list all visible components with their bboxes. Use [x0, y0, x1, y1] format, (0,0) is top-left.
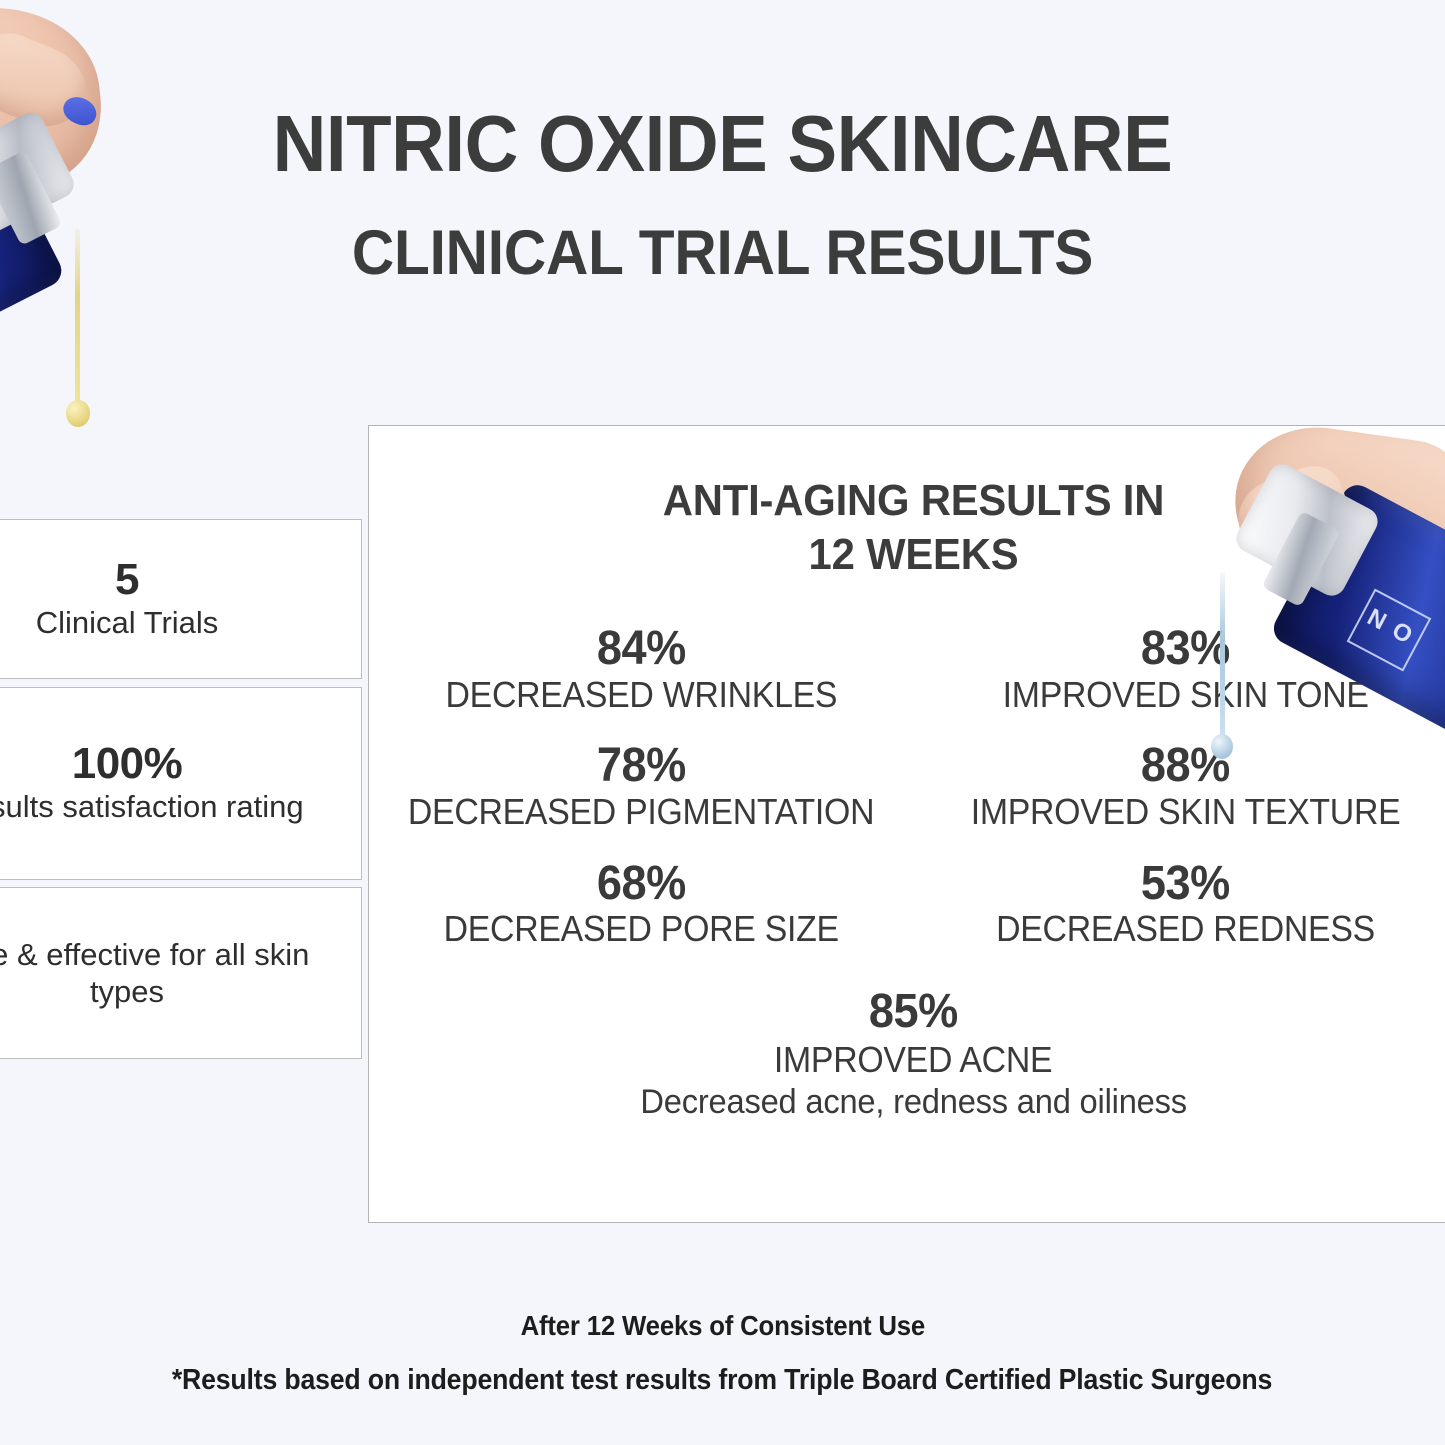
page-title: NITRIC OXIDE SKINCARE	[51, 104, 1395, 184]
stat-improved-skin-texture: 88% IMPROVED SKIN TEXTURE	[914, 740, 1445, 832]
side-card-satisfaction: 100% Results satisfaction rating	[0, 687, 362, 880]
stat-label: DECREASED REDNESS	[996, 909, 1375, 949]
results-panel: ANTI-AGING RESULTS IN 12 WEEKS 84% DECRE…	[368, 425, 1445, 1223]
stat-value: 53%	[1141, 858, 1230, 910]
stat-decreased-pore-size: 68% DECREASED PORE SIZE	[369, 858, 914, 950]
stat-improved-acne: 85% IMPROVED ACNE Decreased acne, rednes…	[369, 986, 1445, 1122]
stat-label: DECREASED PORE SIZE	[444, 909, 839, 949]
stat-improved-skin-tone: 83% IMPROVED SKIN TONE	[914, 623, 1445, 715]
panel-heading: ANTI-AGING RESULTS IN 12 WEEKS	[396, 426, 1431, 581]
side-card-label: Clinical Trials	[36, 605, 219, 642]
side-card-value: 5	[115, 557, 139, 603]
stat-value: 68%	[597, 858, 686, 910]
stat-label: IMPROVED SKIN TEXTURE	[971, 792, 1401, 832]
side-card-clinical-trials: 5 Clinical Trials	[0, 519, 362, 679]
stat-label: IMPROVED SKIN TONE	[1003, 675, 1369, 715]
panel-heading-line1: ANTI-AGING RESULTS IN	[396, 474, 1431, 528]
stat-grid: 84% DECREASED WRINKLES 83% IMPROVED SKIN…	[369, 623, 1445, 949]
stat-value: 85%	[869, 986, 958, 1039]
stat-value: 78%	[597, 740, 686, 792]
stat-value: 83%	[1141, 623, 1230, 675]
page-header: NITRIC OXIDE SKINCARE CLINICAL TRIAL RES…	[0, 0, 1445, 285]
side-card-label: Results satisfaction rating	[0, 789, 304, 826]
footer-disclaimer: *Results based on independent test resul…	[172, 1364, 1272, 1397]
panel-heading-line2: 12 WEEKS	[396, 528, 1431, 582]
side-card-text: Safe & effective for all skin types	[0, 936, 335, 1010]
stat-decreased-wrinkles: 84% DECREASED WRINKLES	[369, 623, 914, 715]
stat-decreased-redness: 53% DECREASED REDNESS	[914, 858, 1445, 950]
stat-label: DECREASED WRINKLES	[445, 675, 837, 715]
stat-label: IMPROVED ACNE	[774, 1039, 1052, 1080]
stat-label: DECREASED PIGMENTATION	[408, 792, 874, 832]
page-subtitle: CLINICAL TRIAL RESULTS	[51, 222, 1395, 285]
serum-droplet	[66, 400, 90, 427]
stat-decreased-pigmentation: 78% DECREASED PIGMENTATION	[369, 740, 914, 832]
footer-duration-note: After 12 Weeks of Consistent Use	[520, 1310, 924, 1342]
stat-value: 84%	[597, 623, 686, 675]
side-card-skin-types: Safe & effective for all skin types	[0, 887, 362, 1059]
side-card-value: 100%	[72, 741, 183, 787]
footer: After 12 Weeks of Consistent Use *Result…	[0, 1310, 1445, 1397]
side-stat-cards: 5 Clinical Trials 100% Results satisfact…	[0, 519, 362, 1059]
stat-value: 88%	[1141, 740, 1230, 792]
stat-sublabel: Decreased acne, redness and oiliness	[640, 1082, 1186, 1122]
